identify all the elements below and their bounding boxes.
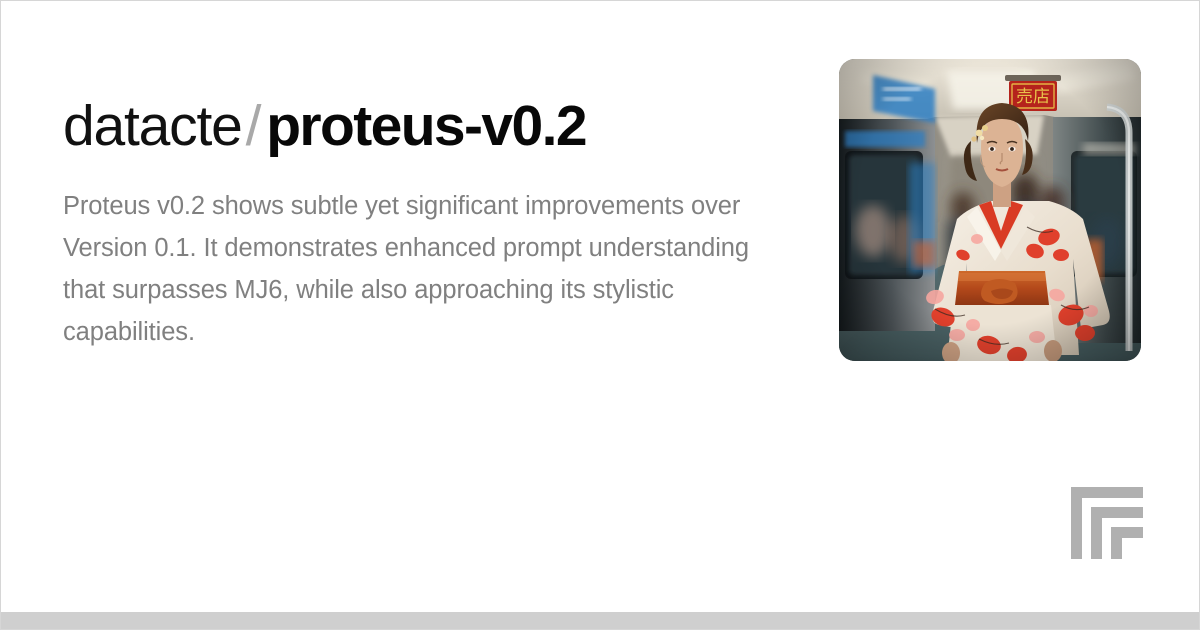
model-description: Proteus v0.2 shows subtle yet significan… bbox=[63, 185, 783, 353]
title-model-name: proteus-v0.2 bbox=[266, 94, 586, 158]
preview-illustration: 売店 bbox=[839, 59, 1141, 361]
page-title: datacte/proteus-v0.2 bbox=[63, 97, 793, 157]
title-owner: datacte bbox=[63, 94, 242, 158]
logo-icon bbox=[1071, 487, 1143, 559]
card-text-content: datacte/proteus-v0.2 Proteus v0.2 shows … bbox=[63, 97, 793, 353]
title-separator: / bbox=[242, 94, 267, 158]
open-graph-card: datacte/proteus-v0.2 Proteus v0.2 shows … bbox=[0, 0, 1200, 630]
datacte-nested-corners-logo bbox=[1071, 487, 1143, 559]
bottom-bar bbox=[1, 612, 1200, 629]
model-preview-thumbnail: 売店 bbox=[839, 59, 1141, 361]
